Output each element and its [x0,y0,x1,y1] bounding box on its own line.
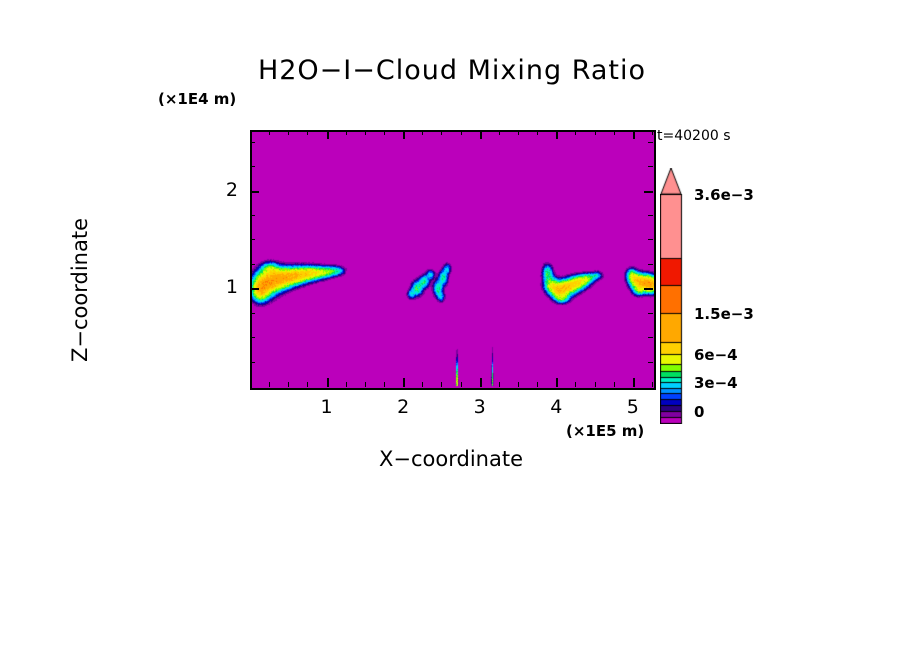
figure-root: H2O−I−Cloud Mixing Ratio (×1E4 m) (×1E5 … [0,0,904,654]
axis-tick [480,130,482,139]
axis-tick [250,215,255,216]
axis-tick [346,130,347,135]
axis-tick [652,130,653,135]
axis-tick [556,130,558,139]
axis-tick [644,191,653,193]
y-tick-label: 1 [198,276,238,298]
colorbar-tick-label: 0 [694,403,704,421]
x-tick-label: 3 [455,396,505,418]
chart-title: H2O−I−Cloud Mixing Ratio [0,55,904,86]
axis-tick [365,382,366,387]
time-stamp-label: t=40200 s [657,128,731,144]
axis-tick [614,130,615,135]
axis-tick [288,382,289,387]
axis-tick [250,313,255,314]
axis-tick [644,288,653,290]
axis-tick [250,362,255,363]
axis-tick [556,378,558,387]
x-tick-label: 5 [608,396,658,418]
axis-tick [307,130,308,135]
axis-tick [648,337,653,338]
axis-tick [384,130,385,135]
axis-tick [461,382,462,387]
axis-tick [327,130,329,139]
colorbar-gradient [660,194,690,424]
axis-tick [461,130,462,135]
axis-tick [480,378,482,387]
axis-tick [648,215,653,216]
axis-tick [269,130,270,135]
axis-tick [441,382,442,387]
axis-tick [499,130,500,135]
axis-tick [633,378,635,387]
x-tick-label: 4 [531,396,581,418]
axis-tick [403,378,405,387]
axis-tick [250,288,259,290]
axis-tick [250,337,255,338]
y-axis-units-label: (×1E4 m) [158,90,236,108]
axis-tick [518,130,519,135]
axis-tick [537,130,538,135]
axis-tick [288,130,289,135]
x-tick-label: 1 [302,396,352,418]
y-tick-label: 2 [198,179,238,201]
axis-tick [327,378,329,387]
colorbar-tick-label: 3.6e−3 [694,186,754,204]
axis-tick [250,191,259,193]
axis-tick [422,382,423,387]
axis-tick [365,130,366,135]
axis-tick [648,264,653,265]
x-axis-title: X−coordinate [250,447,652,471]
axis-tick [269,382,270,387]
axis-tick [307,382,308,387]
y-axis-title: Z−coordinate [68,150,92,430]
axis-tick [633,130,635,139]
axis-tick [652,382,653,387]
axis-tick [518,382,519,387]
axis-tick [614,382,615,387]
axis-tick [403,130,405,139]
axis-tick [575,382,576,387]
axis-tick [595,130,596,135]
axis-tick [648,362,653,363]
colorbar: 3.6e−31.5e−36e−43e−40 [660,194,690,428]
axis-tick [648,313,653,314]
axis-tick [250,142,255,143]
x-tick-label: 2 [378,396,428,418]
axis-tick [537,382,538,387]
contour-plot-area [250,130,656,390]
axis-tick [250,264,255,265]
axis-tick [648,142,653,143]
axis-tick [648,239,653,240]
colorbar-overflow-arrow [660,168,682,194]
axis-tick [575,130,576,135]
axis-tick [595,382,596,387]
axis-tick [499,382,500,387]
axis-tick [250,166,255,167]
axis-tick [384,382,385,387]
colorbar-tick-label: 1.5e−3 [694,305,754,323]
axis-tick [648,166,653,167]
axis-tick [250,239,255,240]
axis-tick [441,130,442,135]
colorbar-tick-label: 3e−4 [694,374,738,392]
axis-tick [346,382,347,387]
contour-field-canvas [252,132,654,388]
axis-tick [422,130,423,135]
x-axis-units-label: (×1E5 m) [566,422,644,440]
colorbar-tick-label: 6e−4 [694,346,738,364]
